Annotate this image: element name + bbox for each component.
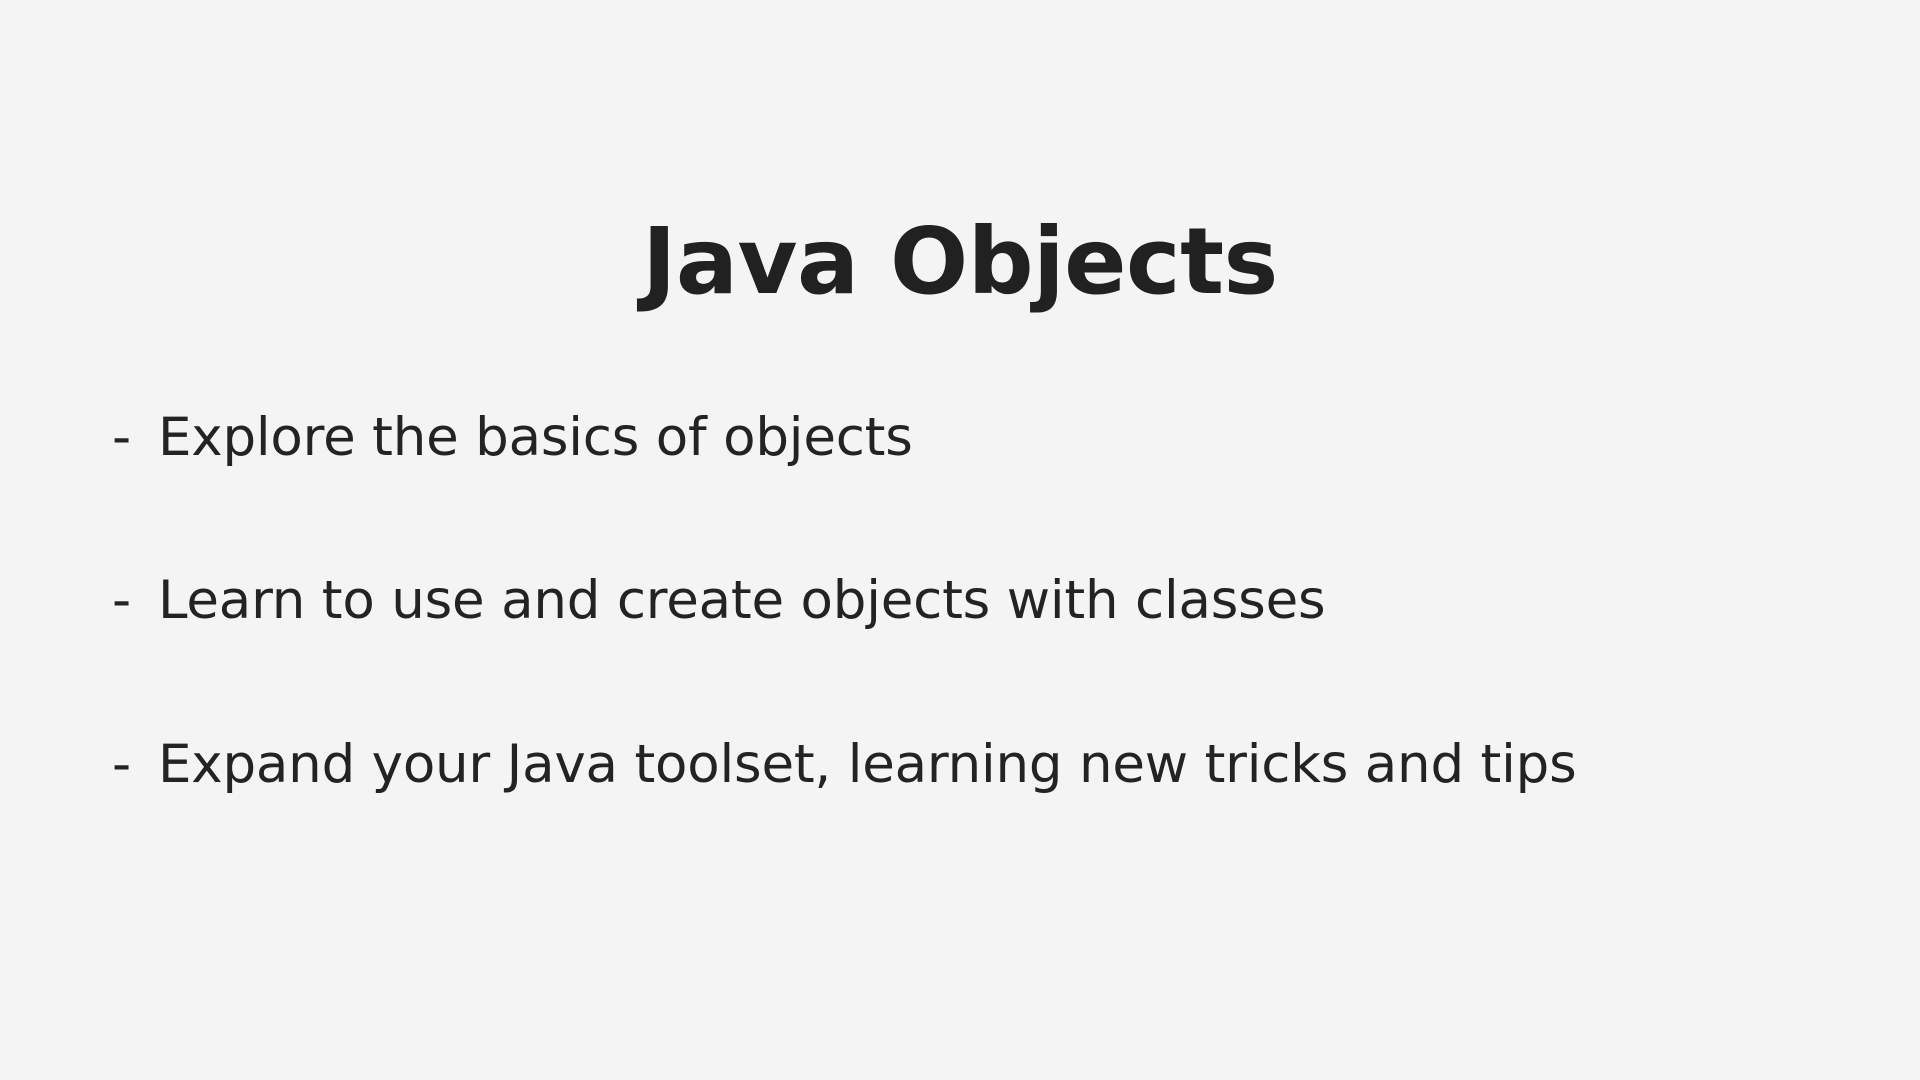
list-item: -Learn to use and create objects with cl… [112, 571, 1872, 630]
bullet-marker-icon: - [112, 571, 158, 630]
page-title: Java Objects [0, 210, 1920, 313]
presentation-slide: Java Objects -Explore the basics of obje… [0, 0, 1920, 1080]
list-item-label: Learn to use and create objects with cla… [158, 570, 1325, 631]
bullet-marker-icon: - [112, 735, 158, 794]
list-item-label: Explore the basics of objects [158, 407, 913, 468]
list-item: -Explore the basics of objects [112, 408, 1872, 467]
list-item: -Expand your Java toolset, learning new … [112, 735, 1872, 794]
bullet-list: -Explore the basics of objects -Learn to… [112, 408, 1872, 794]
list-item-label: Expand your Java toolset, learning new t… [158, 734, 1577, 795]
bullet-marker-icon: - [112, 408, 158, 467]
